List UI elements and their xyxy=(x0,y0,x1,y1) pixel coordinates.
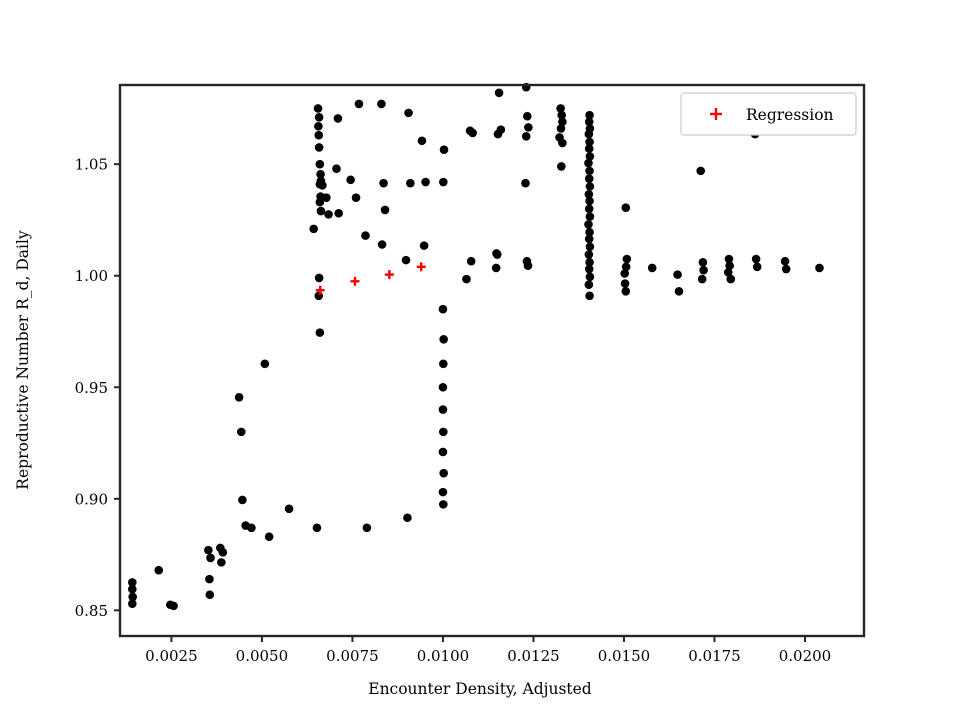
data-point xyxy=(621,203,630,212)
data-point xyxy=(815,264,824,273)
data-point xyxy=(586,242,595,251)
x-tick-label: 0.0025 xyxy=(145,647,198,665)
x-tick-label: 0.0100 xyxy=(417,647,470,665)
plot-canvas: 0.00250.00500.00750.01000.01250.01500.01… xyxy=(0,0,960,720)
data-point xyxy=(315,274,324,283)
data-point xyxy=(219,548,228,557)
data-point xyxy=(421,178,430,187)
data-point xyxy=(261,360,270,369)
x-tick-label: 0.0150 xyxy=(598,647,651,665)
data-point xyxy=(586,273,595,282)
axis-ticks: 0.00250.00500.00750.01000.01250.01500.01… xyxy=(75,156,832,665)
data-point xyxy=(361,231,370,240)
data-point xyxy=(495,89,504,98)
data-point xyxy=(462,275,471,284)
data-point xyxy=(675,287,684,296)
data-point xyxy=(620,269,629,278)
data-point xyxy=(169,602,178,611)
data-point xyxy=(406,179,415,188)
data-point xyxy=(585,144,594,153)
data-point xyxy=(346,176,355,185)
data-point xyxy=(557,124,566,133)
legend[interactable]: Regression xyxy=(681,93,856,135)
data-point xyxy=(439,500,448,509)
data-point xyxy=(648,264,657,273)
data-point xyxy=(309,225,318,234)
data-point xyxy=(377,100,386,109)
y-tick-label: 1.05 xyxy=(75,156,108,174)
data-point xyxy=(439,305,448,314)
x-axis-label: Encounter Density, Adjusted xyxy=(0,680,960,698)
data-point xyxy=(205,590,214,599)
data-point xyxy=(585,265,594,274)
data-point xyxy=(317,207,326,216)
data-points-layer xyxy=(128,83,824,610)
data-point xyxy=(217,558,226,567)
data-point xyxy=(238,496,247,505)
data-point xyxy=(418,136,427,145)
data-point xyxy=(237,428,246,437)
data-point xyxy=(585,130,594,139)
data-point xyxy=(467,257,476,266)
data-point xyxy=(334,114,343,123)
data-point xyxy=(673,270,682,279)
y-tick-label: 0.90 xyxy=(75,490,108,508)
data-point xyxy=(265,532,274,541)
data-point xyxy=(324,210,333,219)
x-tick-label: 0.0050 xyxy=(236,647,289,665)
data-point xyxy=(128,585,137,594)
data-point xyxy=(782,265,791,274)
data-point xyxy=(585,197,594,206)
data-point xyxy=(318,181,327,190)
data-point xyxy=(352,193,361,202)
data-point xyxy=(439,360,448,369)
data-point xyxy=(205,575,214,584)
legend-label-regression: Regression xyxy=(746,106,834,124)
x-tick-label: 0.0075 xyxy=(326,647,379,665)
data-point xyxy=(586,212,595,221)
data-point xyxy=(585,250,594,259)
data-point xyxy=(698,275,707,284)
data-point xyxy=(128,599,137,608)
data-point xyxy=(235,393,244,402)
data-point xyxy=(378,240,387,249)
y-tick-label: 0.85 xyxy=(75,602,108,620)
data-point xyxy=(557,162,566,171)
data-point xyxy=(621,279,630,288)
data-point xyxy=(753,263,762,272)
data-point xyxy=(494,130,503,139)
data-point xyxy=(404,109,413,118)
data-point xyxy=(315,143,324,152)
data-point xyxy=(420,241,429,250)
data-point xyxy=(206,554,215,563)
data-point xyxy=(322,193,331,202)
x-tick-label: 0.0200 xyxy=(779,647,832,665)
data-point xyxy=(699,266,708,275)
data-point xyxy=(524,123,533,132)
data-point xyxy=(247,524,256,533)
data-point xyxy=(696,167,705,176)
data-point xyxy=(585,235,594,244)
data-point xyxy=(204,546,213,555)
data-point xyxy=(313,524,322,533)
data-point xyxy=(585,280,594,289)
data-point xyxy=(439,428,448,437)
data-point xyxy=(355,100,364,109)
data-point xyxy=(439,178,448,187)
data-point xyxy=(363,524,372,533)
data-point xyxy=(585,174,594,183)
data-point xyxy=(314,104,323,113)
x-tick-label: 0.0125 xyxy=(507,647,560,665)
data-point xyxy=(439,383,448,392)
data-point xyxy=(314,292,323,301)
y-tick-label: 1.00 xyxy=(75,267,108,285)
data-point xyxy=(752,255,761,264)
data-point xyxy=(381,206,390,215)
data-point xyxy=(402,256,411,265)
data-point xyxy=(439,448,448,457)
data-point xyxy=(334,209,343,218)
data-point xyxy=(285,505,294,514)
data-point xyxy=(522,132,531,141)
data-point xyxy=(584,159,593,168)
data-point xyxy=(468,129,477,138)
data-point xyxy=(316,160,325,169)
data-point xyxy=(621,287,630,296)
scatter-plot-figure: 0.00250.00500.00750.01000.01250.01500.01… xyxy=(0,0,960,720)
data-point xyxy=(439,405,448,414)
data-point xyxy=(521,179,530,188)
data-point xyxy=(439,469,448,478)
data-point xyxy=(403,513,412,522)
data-point xyxy=(781,257,790,266)
data-point xyxy=(699,258,708,267)
data-point xyxy=(492,264,501,273)
y-tick-label: 0.95 xyxy=(75,379,108,397)
x-tick-label: 0.0175 xyxy=(688,647,741,665)
data-point xyxy=(584,220,593,229)
data-point xyxy=(558,139,567,148)
data-point xyxy=(586,182,595,191)
data-point xyxy=(379,179,388,188)
data-point xyxy=(314,122,323,131)
data-point xyxy=(585,167,594,176)
data-point xyxy=(726,275,735,284)
data-point xyxy=(585,205,594,214)
data-point xyxy=(439,488,448,497)
data-point xyxy=(440,145,449,154)
regression-markers-layer xyxy=(316,262,426,294)
data-point xyxy=(523,112,532,121)
data-point xyxy=(314,131,323,140)
data-point xyxy=(585,292,594,301)
data-point xyxy=(439,335,448,344)
data-point xyxy=(524,261,533,270)
data-point xyxy=(154,566,163,575)
data-point xyxy=(315,113,324,122)
axes-frame xyxy=(120,85,864,636)
data-point xyxy=(332,164,341,173)
data-point xyxy=(493,250,502,259)
data-point xyxy=(316,328,325,337)
data-point xyxy=(623,255,632,264)
